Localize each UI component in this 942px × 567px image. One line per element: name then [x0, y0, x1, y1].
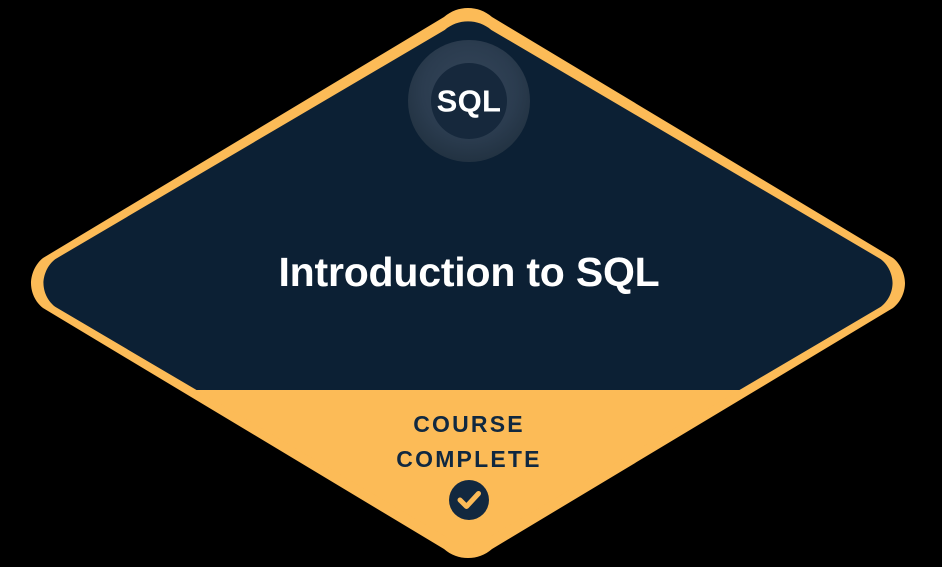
subject-tag: SQL — [408, 40, 530, 162]
check-circle-icon — [449, 480, 489, 520]
badge-stage: SQL Introduction to SQL COURSE COMPLETE — [0, 0, 942, 567]
course-title: Introduction to SQL — [278, 249, 659, 295]
status-line-2: COMPLETE — [396, 446, 541, 472]
subject-tag-label: SQL — [437, 84, 502, 119]
check-circle-background — [449, 480, 489, 520]
status-line-1: COURSE — [413, 411, 525, 437]
course-completion-badge[interactable]: SQL Introduction to SQL COURSE COMPLETE — [0, 0, 942, 567]
